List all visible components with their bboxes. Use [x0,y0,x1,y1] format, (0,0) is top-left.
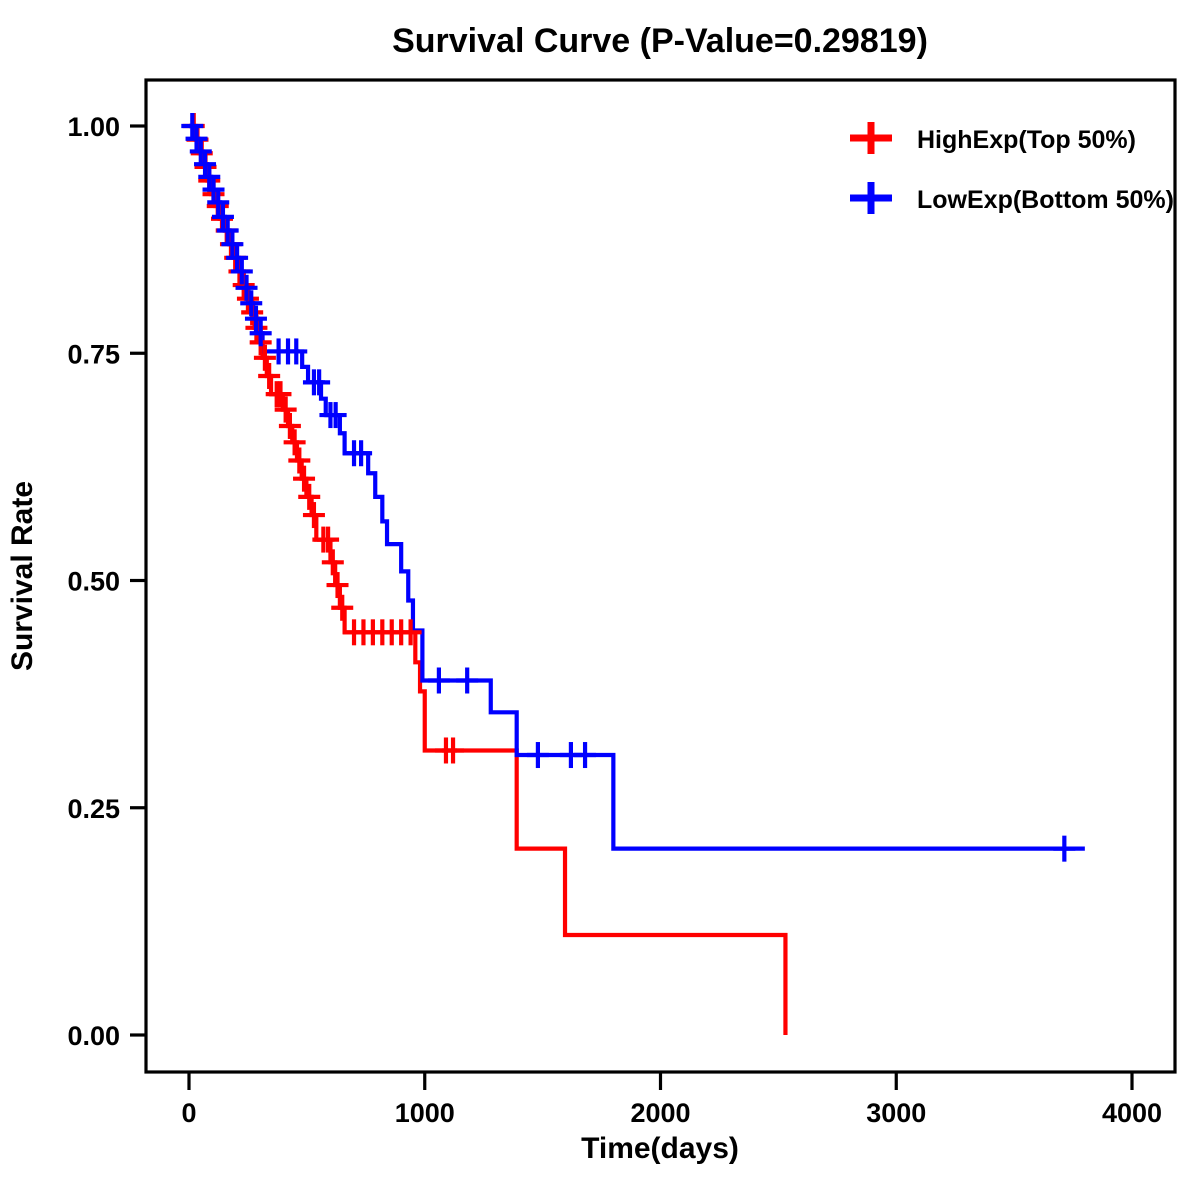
y-tick-label: 0.25 [67,794,120,824]
censor-marks [181,113,1075,862]
censor-tick-low-exp [428,667,450,693]
legend-entry-low-exp[interactable]: LowExp(Bottom 50%) [850,182,1174,214]
censor-tick-high-exp [331,595,353,621]
censor-tick-low-exp [186,126,208,152]
legend-label: LowExp(Bottom 50%) [917,186,1174,214]
censor-tick-low-exp [325,402,347,428]
legend-label: HighExp(Top 50%) [917,126,1136,154]
censor-tick-high-exp [279,413,301,439]
censor-tick-low-exp [574,742,596,768]
chart-legend: HighExp(Top 50%)LowExp(Bottom 50%) [850,122,1174,214]
plot-frame [146,80,1175,1072]
y-tick-label: 0.00 [67,1021,120,1051]
censor-tick-low-exp [527,742,549,768]
censor-tick-high-exp [322,549,344,575]
chart-title: Survival Curve (P-Value=0.29819) [392,22,928,60]
legend-entry-high-exp[interactable]: HighExp(Top 50%) [850,122,1136,154]
y-axis-ticks: 0.000.250.500.751.00 [67,112,146,1051]
x-tick-label: 2000 [630,1098,690,1128]
survival-curves [189,126,1085,1035]
censor-tick-low-exp [181,113,203,139]
legend-plus-icon [850,182,892,214]
survival-step-line-low-exp [189,126,1085,849]
x-tick-label: 0 [181,1098,196,1128]
survival-curve-figure: Survival Curve (P-Value=0.29819) Surviva… [0,0,1200,1200]
censor-tick-high-exp [284,429,306,455]
y-tick-label: 0.50 [67,567,120,597]
x-tick-label: 1000 [395,1098,455,1128]
censor-tick-high-exp [317,527,339,553]
survival-step-line-high-exp [189,126,785,1035]
y-axis-title: Survival Rate [6,481,39,671]
censor-tick-low-exp [190,138,212,164]
censor-tick-high-exp [327,572,349,598]
censor-tick-high-exp [293,466,315,492]
censor-tick-low-exp [456,667,478,693]
censor-tick-low-exp [308,369,330,395]
x-axis-title: Time(days) [581,1132,739,1165]
censor-tick-high-exp [303,502,325,528]
legend-plus-icon [850,122,892,154]
y-tick-label: 0.75 [67,339,120,369]
x-tick-label: 3000 [866,1098,926,1128]
chart-canvas: Survival Curve (P-Value=0.29819) Surviva… [0,0,1200,1200]
x-axis-ticks: 01000200030004000 [181,1072,1162,1128]
y-tick-label: 1.00 [67,112,120,142]
censor-tick-high-exp [298,484,320,510]
censor-tick-high-exp [254,345,276,371]
x-tick-label: 4000 [1102,1098,1162,1128]
censor-tick-high-exp [288,448,310,474]
censor-tick-low-exp [1053,836,1075,862]
